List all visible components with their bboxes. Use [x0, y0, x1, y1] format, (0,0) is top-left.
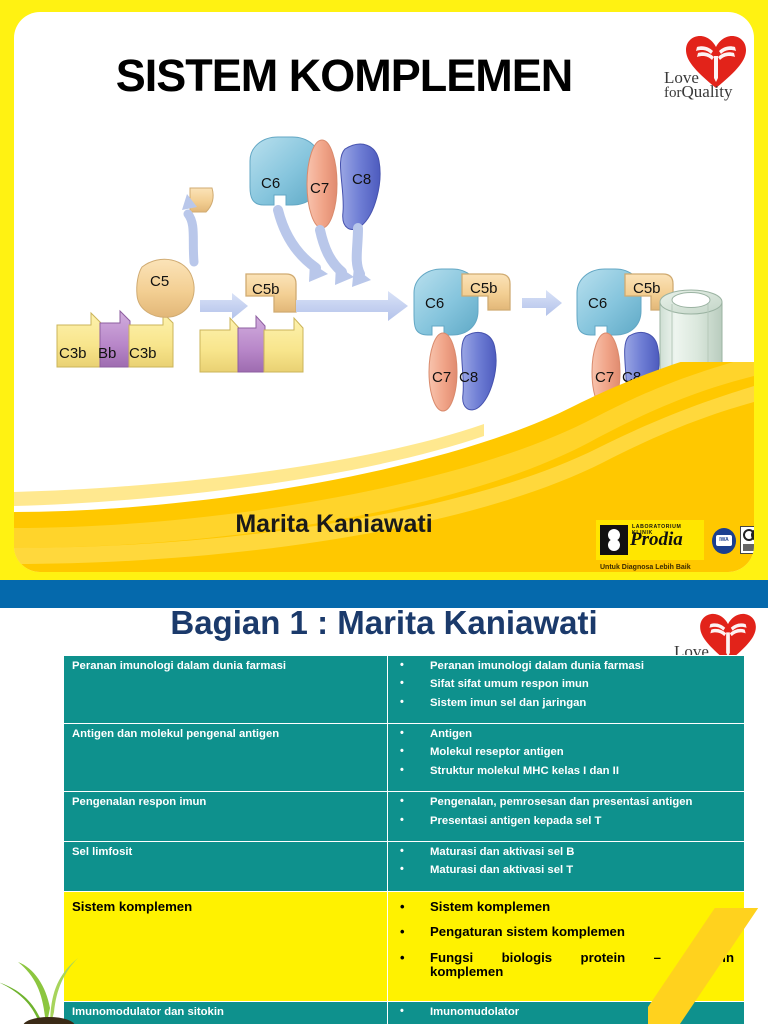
- agenda-points: Maturasi dan aktivasi sel B Maturasi dan…: [388, 841, 745, 891]
- list-item: Struktur molekul MHC kelas I dan II: [388, 766, 736, 778]
- list-item: Presentasi antigen kepada sel T: [388, 816, 736, 828]
- slide1-canvas: SISTEM KOMPLEMEN Love forQuality: [14, 12, 754, 572]
- prodia-logo: LABORATORIUM KLINIK Prodia Untuk Diagnos…: [596, 520, 754, 572]
- svg-text:C3b: C3b: [129, 345, 157, 362]
- agenda-point-list: Antigen Molekul reseptor antigen Struktu…: [388, 729, 736, 778]
- slide1-author: Marita Kaniawati: [14, 510, 654, 539]
- svg-text:C5b: C5b: [470, 280, 498, 297]
- agenda-points: Antigen Molekul reseptor antigen Struktu…: [388, 724, 745, 792]
- list-item: Maturasi dan aktivasi sel T: [388, 865, 736, 877]
- prodia-mark-icon: [600, 525, 628, 555]
- agenda-table-body: Peranan imunologi dalam dunia farmasi Pe…: [64, 656, 745, 1024]
- list-item: Sifat sifat umum respon imun: [388, 679, 736, 691]
- agenda-topic: Peranan imunologi dalam dunia farmasi: [64, 656, 388, 724]
- ribbon-stripe: [648, 908, 768, 1024]
- ribbon-decoration: [648, 908, 768, 1024]
- agenda-point-list: Peranan imunologi dalam dunia farmasi Si…: [388, 661, 736, 710]
- list-item: Peranan imunologi dalam dunia farmasi: [388, 661, 736, 673]
- agenda-points: Pengenalan, pemrosesan dan presentasi an…: [388, 792, 745, 842]
- iwa-certification-icon: IWA: [712, 528, 736, 554]
- list-item: Maturasi dan aktivasi sel B: [388, 847, 736, 859]
- slide2-title: Bagian 1 : Marita Kaniawati: [0, 608, 768, 642]
- plant-icon: [0, 938, 114, 1024]
- slide-sistem-komplemen: SISTEM KOMPLEMEN Love forQuality: [0, 0, 768, 597]
- list-item: Molekul reseptor antigen: [388, 747, 736, 759]
- iwa-label: IWA: [716, 535, 732, 546]
- agenda-table: Peranan imunologi dalam dunia farmasi Pe…: [63, 655, 745, 1024]
- slide-divider-bar: [0, 580, 768, 608]
- svg-text:C5b: C5b: [633, 280, 661, 297]
- svg-text:C3b: C3b: [59, 345, 87, 362]
- svg-text:C7: C7: [310, 180, 329, 197]
- table-row: Peranan imunologi dalam dunia farmasi Pe…: [64, 656, 745, 724]
- svg-text:C6: C6: [261, 175, 280, 192]
- list-item: Sistem imun sel dan jaringan: [388, 698, 736, 710]
- agenda-topic: Pengenalan respon imun: [64, 792, 388, 842]
- agenda-points: Peranan imunologi dalam dunia farmasi Si…: [388, 656, 745, 724]
- svg-text:C5: C5: [150, 273, 169, 290]
- agenda-topic: Antigen dan molekul pengenal antigen: [64, 724, 388, 792]
- prodia-logo-box: LABORATORIUM KLINIK Prodia: [596, 520, 704, 560]
- svg-text:C5b: C5b: [252, 281, 280, 298]
- c5a-fragment: [190, 188, 213, 212]
- agenda-point-list: Pengenalan, pemrosesan dan presentasi an…: [388, 797, 736, 827]
- table-row: Imunomodulator dan sitokin Imunomudolato…: [64, 1002, 745, 1024]
- agenda-point-list: Maturasi dan aktivasi sel B Maturasi dan…: [388, 847, 736, 877]
- prodia-tagline: Untuk Diagnosa Lebih Baik: [600, 564, 691, 571]
- list-item: Pengenalan, pemrosesan dan presentasi an…: [388, 797, 736, 809]
- table-row: Sel limfosit Maturasi dan aktivasi sel B…: [64, 841, 745, 891]
- kan-certification-icon: [740, 526, 754, 554]
- table-row-highlighted: Sistem komplemen Sistem komplemen Pengat…: [64, 891, 745, 1001]
- prodia-wordmark: Prodia: [630, 529, 683, 551]
- svg-text:C6: C6: [588, 295, 607, 312]
- svg-text:C8: C8: [352, 171, 371, 188]
- agenda-topic: Sel limfosit: [64, 841, 388, 891]
- table-row: Antigen dan molekul pengenal antigen Ant…: [64, 724, 745, 792]
- svg-text:C6: C6: [425, 295, 444, 312]
- list-item: Antigen: [388, 729, 736, 741]
- plant-decoration: [0, 938, 114, 1024]
- slide-bagian-1-agenda: Bagian 1 : Marita Kaniawati Love forQual…: [0, 608, 768, 1024]
- table-row: Pengenalan respon imun Pengenalan, pemro…: [64, 792, 745, 842]
- svg-text:Bb: Bb: [98, 345, 116, 362]
